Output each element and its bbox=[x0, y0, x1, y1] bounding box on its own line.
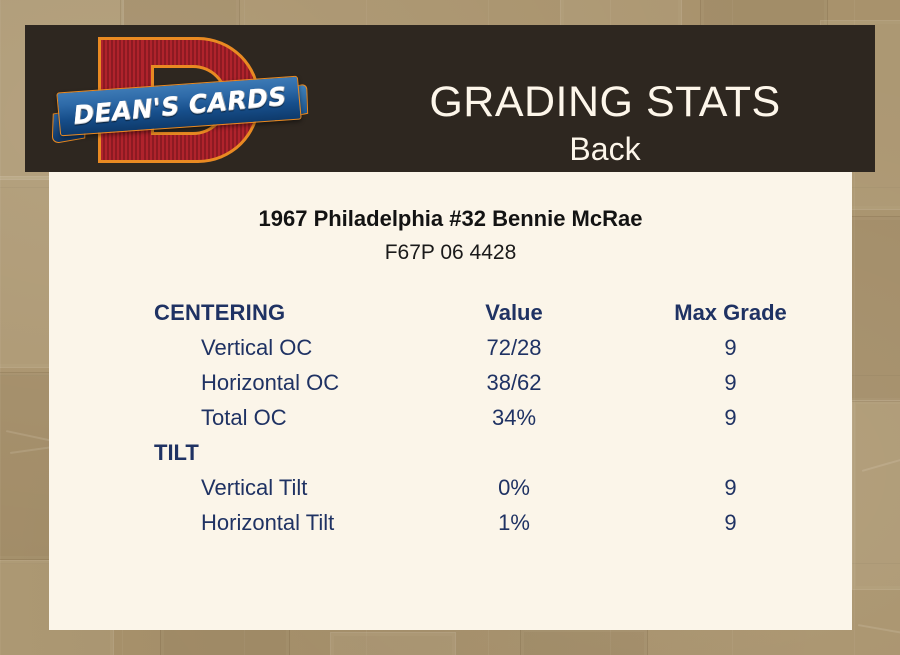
header-bar: DEAN'S CARDS GRADING STATS Back bbox=[25, 25, 875, 172]
background-card-decoration bbox=[520, 628, 648, 655]
table-row: Horizontal OC 38/62 9 bbox=[49, 365, 852, 400]
background-card-decoration bbox=[330, 632, 456, 655]
section-title-tilt: TILT bbox=[49, 435, 419, 470]
stat-label: Horizontal OC bbox=[49, 365, 419, 400]
background-card-decoration bbox=[846, 216, 900, 402]
stat-value: 72/28 bbox=[419, 330, 609, 365]
grading-stats-table: CENTERING Value Max Grade Vertical OC 72… bbox=[49, 295, 852, 540]
stat-value: 0% bbox=[419, 470, 609, 505]
page-root: DEAN'S CARDS GRADING STATS Back 1967 Phi… bbox=[0, 0, 900, 655]
column-header-max-grade: Max Grade bbox=[609, 295, 852, 330]
stat-value: 34% bbox=[419, 400, 609, 435]
stats-table-head: CENTERING Value Max Grade bbox=[49, 295, 852, 330]
table-row: Horizontal Tilt 1% 9 bbox=[49, 505, 852, 540]
page-title: GRADING STATS bbox=[429, 80, 780, 125]
deans-cards-logo[interactable]: DEAN'S CARDS bbox=[50, 29, 310, 169]
stat-value: 38/62 bbox=[419, 365, 609, 400]
stat-label: Vertical Tilt bbox=[49, 470, 419, 505]
stat-max-grade: 9 bbox=[609, 365, 852, 400]
section-spacer bbox=[609, 435, 852, 470]
page-subtitle: Back bbox=[569, 133, 640, 167]
content-panel: 1967 Philadelphia #32 Bennie McRae F67P … bbox=[49, 172, 852, 630]
table-row: Vertical OC 72/28 9 bbox=[49, 330, 852, 365]
card-serial-number: F67P 06 4428 bbox=[49, 241, 852, 265]
card-title: 1967 Philadelphia #32 Bennie McRae bbox=[49, 206, 852, 232]
stats-table-body: Vertical OC 72/28 9 Horizontal OC 38/62 … bbox=[49, 330, 852, 540]
background-card-decoration bbox=[160, 626, 290, 655]
section-spacer bbox=[419, 435, 609, 470]
stat-label: Vertical OC bbox=[49, 330, 419, 365]
stat-label: Horizontal Tilt bbox=[49, 505, 419, 540]
stat-value: 1% bbox=[419, 505, 609, 540]
background-card-decoration bbox=[852, 400, 900, 590]
stat-label: Total OC bbox=[49, 400, 419, 435]
logo-ribbon: DEAN'S CARDS bbox=[50, 81, 308, 137]
table-row: Total OC 34% 9 bbox=[49, 400, 852, 435]
stat-max-grade: 9 bbox=[609, 330, 852, 365]
stat-max-grade: 9 bbox=[609, 400, 852, 435]
section-header-row-tilt: TILT bbox=[49, 435, 852, 470]
table-row: Vertical Tilt 0% 9 bbox=[49, 470, 852, 505]
stat-max-grade: 9 bbox=[609, 505, 852, 540]
column-header-centering: CENTERING bbox=[49, 295, 419, 330]
table-header-row: CENTERING Value Max Grade bbox=[49, 295, 852, 330]
column-header-value: Value bbox=[419, 295, 609, 330]
stat-max-grade: 9 bbox=[609, 470, 852, 505]
